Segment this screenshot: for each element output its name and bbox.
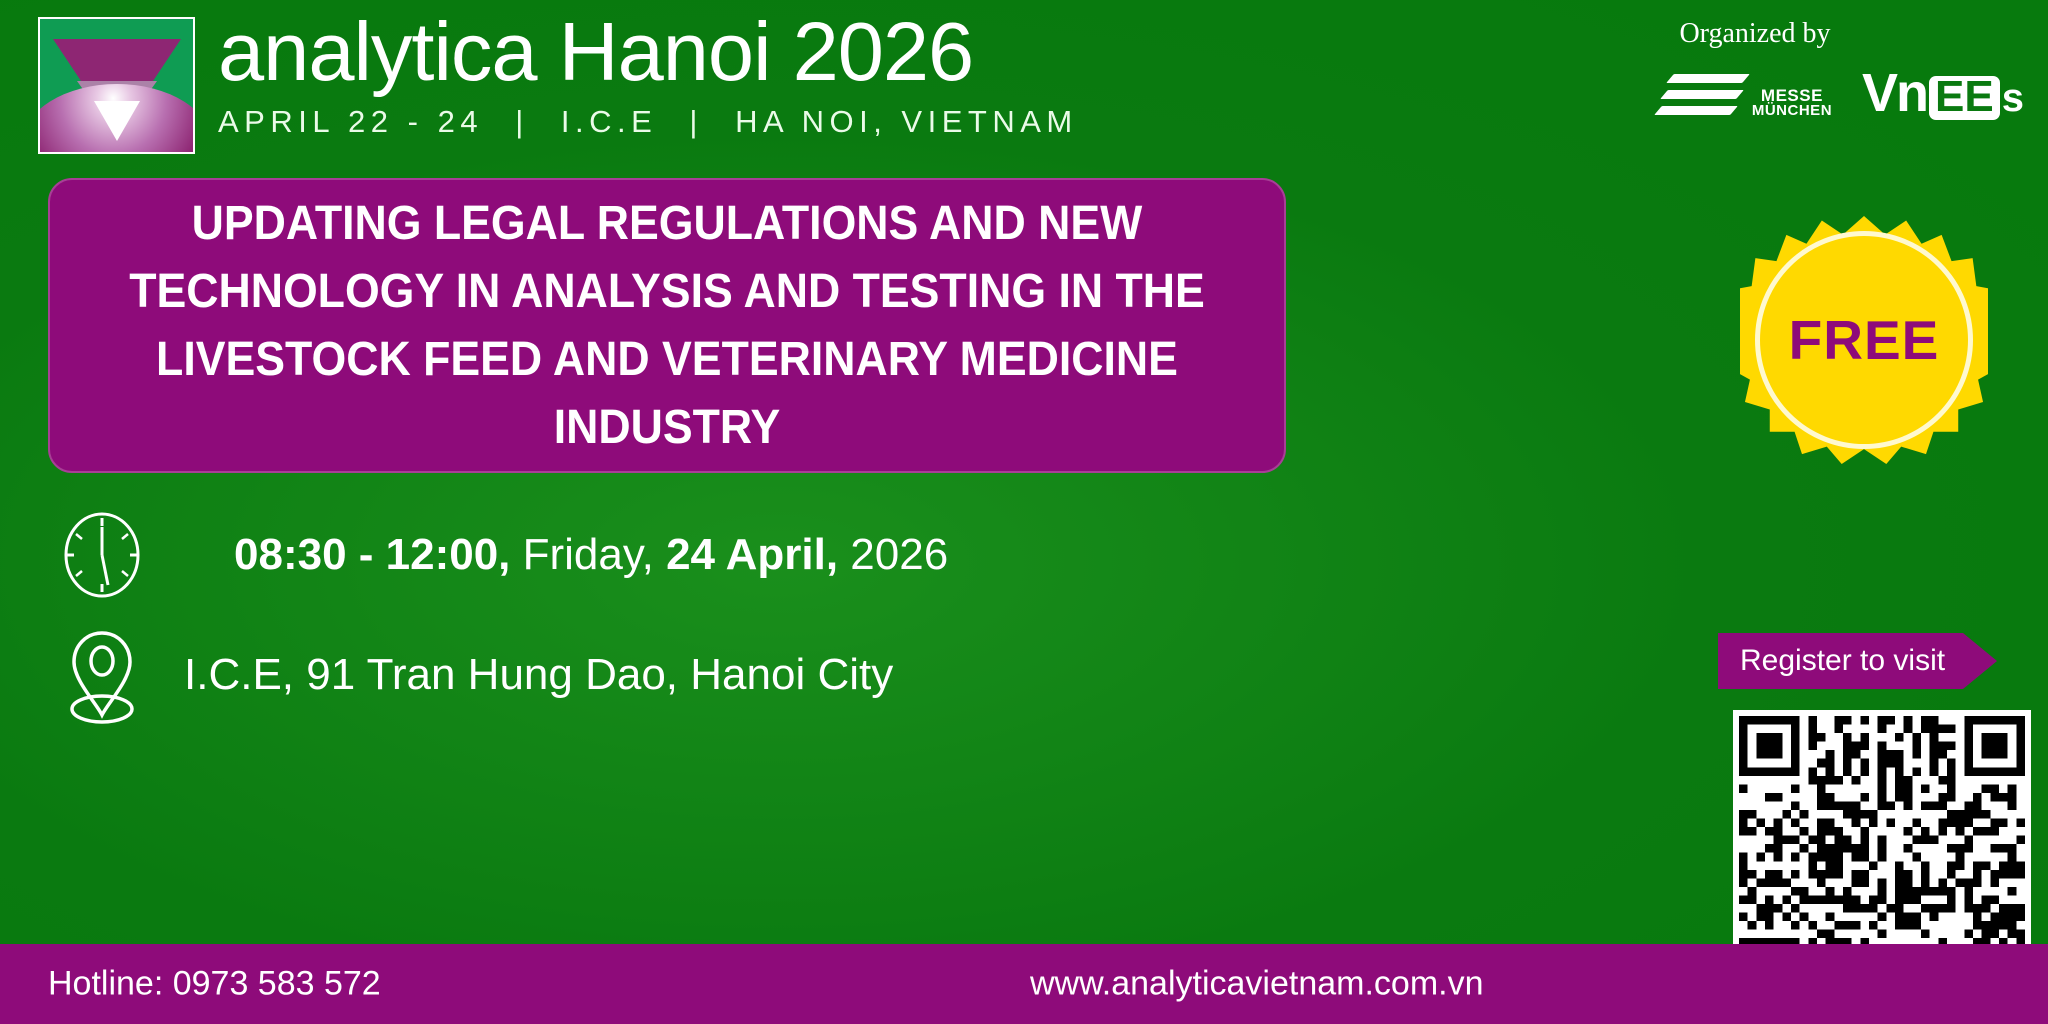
hotline-text: Hotline: 0973 583 572	[48, 965, 381, 1004]
headline-text: UPDATING LEGAL REGULATIONS AND NEW TECHN…	[117, 190, 1216, 462]
clock-icon	[42, 509, 162, 601]
vnees-ee: EE	[1929, 76, 2000, 120]
event-subtitle: APRIL 22 - 24 | I.C.E | HA NOI, VIETNAM	[218, 106, 1078, 138]
event-banner: analytica Hanoi 2026 APRIL 22 - 24 | I.C…	[0, 0, 2048, 1024]
organizer-logos: MESSE MÜNCHEN Vn EE s	[1536, 66, 2036, 122]
free-badge-label: FREE	[1740, 216, 1988, 464]
subtitle-separator-1: |	[497, 104, 547, 139]
vnees-s: s	[2002, 78, 2024, 118]
messe-line-2: MÜNCHEN	[1752, 103, 1832, 118]
subtitle-city: HA NOI, VIETNAM	[735, 104, 1078, 139]
datetime-row: 08:30 - 12:00, Friday, 24 April, 2026	[42, 495, 1322, 615]
vnees-logo-icon: Vn EE s	[1862, 70, 2024, 122]
website-text: www.analyticavietnam.com.vn	[1030, 965, 1484, 1004]
datetime-text: 08:30 - 12:00, Friday, 24 April, 2026	[162, 530, 948, 580]
messe-line-1: MESSE	[1752, 88, 1832, 103]
title-block: analytica Hanoi 2026 APRIL 22 - 24 | I.C…	[218, 10, 1078, 138]
messe-wordmark: MESSE MÜNCHEN	[1752, 88, 1832, 122]
register-ribbon-arrow-icon	[1963, 633, 1997, 689]
location-row: I.C.E, 91 Tran Hung Dao, Hanoi City	[42, 615, 1322, 735]
datetime-date: 24 April,	[654, 530, 838, 579]
headline-panel: UPDATING LEGAL REGULATIONS AND NEW TECHN…	[48, 178, 1286, 473]
banner-footer: Hotline: 0973 583 572 www.analyticavietn…	[0, 944, 2048, 1024]
vnees-vn: Vn	[1862, 70, 1927, 116]
location-text: I.C.E, 91 Tran Hung Dao, Hanoi City	[162, 650, 893, 700]
datetime-year: 2026	[838, 530, 948, 579]
messe-mark-icon	[1668, 66, 1742, 122]
free-badge: FREE	[1740, 216, 1988, 464]
info-rows: 08:30 - 12:00, Friday, 24 April, 2026 I.…	[42, 495, 1322, 735]
subtitle-venue: I.C.E	[561, 104, 657, 139]
location-pin-icon	[42, 625, 162, 725]
logo-funnel-tip	[94, 101, 140, 141]
datetime-weekday: Friday,	[510, 530, 653, 579]
subtitle-date: APRIL 22 - 24	[218, 104, 483, 139]
register-to-visit-ribbon[interactable]: Register to visit	[1718, 633, 1997, 689]
subtitle-separator-2: |	[671, 104, 721, 139]
register-ribbon-label[interactable]: Register to visit	[1718, 633, 1963, 689]
organized-by-label: Organized by	[1536, 18, 1974, 50]
event-title: analytica Hanoi 2026	[218, 10, 1078, 94]
analytica-logo-icon	[38, 17, 195, 154]
banner-header: analytica Hanoi 2026 APRIL 22 - 24 | I.C…	[0, 0, 2048, 170]
messe-muenchen-logo-icon: MESSE MÜNCHEN	[1668, 66, 1832, 122]
organizer-block: Organized by MESSE MÜNCHEN Vn EE s	[1536, 18, 2036, 122]
datetime-time: 08:30 - 12:00,	[234, 530, 510, 579]
